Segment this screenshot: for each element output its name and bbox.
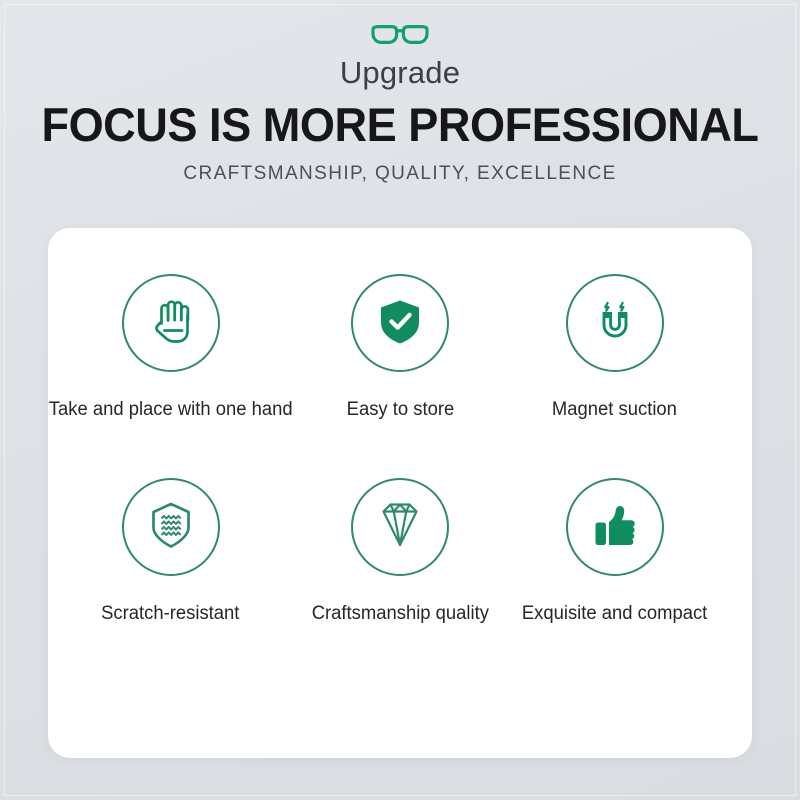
thumbs-up-icon: [587, 497, 643, 558]
promo-banner: Upgrade FOCUS IS MORE PROFESSIONAL CRAFT…: [0, 0, 800, 800]
feature-label: Take and place with one hand: [49, 398, 293, 422]
feature-row: Take and place with one hand Easy to sto…: [48, 274, 752, 422]
header: Upgrade FOCUS IS MORE PROFESSIONAL CRAFT…: [0, 0, 800, 186]
magnet-icon: [587, 293, 643, 354]
feature-item-scratch-resistant: Scratch-resistant: [48, 478, 293, 626]
feature-item-magnet-suction: Magnet suction: [507, 274, 722, 422]
icon-circle: [566, 274, 664, 372]
hand-icon: [143, 293, 199, 354]
icon-circle: [122, 478, 220, 576]
feature-item-craftsmanship-quality: Craftsmanship quality: [293, 478, 507, 626]
eyeglasses-icon: [0, 20, 800, 50]
diamond-icon: [371, 496, 429, 559]
features-card: Take and place with one hand Easy to sto…: [48, 228, 752, 758]
feature-item-take-and-place: Take and place with one hand: [48, 274, 293, 422]
feature-row: Scratch-resistant: [48, 478, 752, 626]
icon-circle: [566, 478, 664, 576]
shield-check-icon: [372, 293, 428, 354]
page-title: FOCUS IS MORE PROFESSIONAL: [16, 98, 784, 152]
feature-item-easy-to-store: Easy to store: [293, 274, 507, 422]
feature-label: Scratch-resistant: [101, 602, 239, 626]
icon-circle: [122, 274, 220, 372]
scratch-shield-icon: [143, 497, 199, 558]
feature-label: Easy to store: [346, 398, 454, 422]
eyebrow-text: Upgrade: [0, 54, 800, 92]
icon-circle: [351, 478, 449, 576]
icon-circle: [351, 274, 449, 372]
feature-label: Exquisite and compact: [522, 602, 707, 626]
feature-label: Magnet suction: [552, 398, 677, 422]
feature-label: Craftsmanship quality: [311, 602, 488, 626]
page-subtitle: CRAFTSMANSHIP, QUALITY, EXCELLENCE: [0, 162, 800, 186]
features-grid: Take and place with one hand Easy to sto…: [48, 274, 752, 626]
feature-item-exquisite-and-compact: Exquisite and compact: [507, 478, 722, 626]
